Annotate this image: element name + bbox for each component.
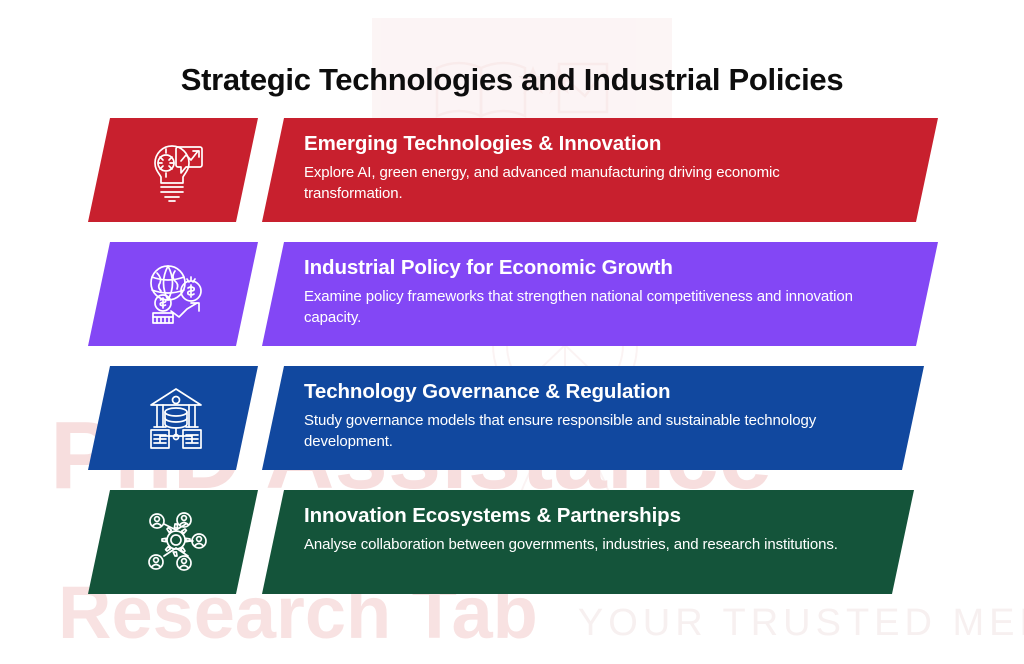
banner-text-block: Emerging Technologies & Innovation Explo… bbox=[304, 132, 878, 205]
banner-row[interactable]: Emerging Technologies & Innovation Explo… bbox=[0, 118, 1024, 222]
banner-icon-panel bbox=[88, 118, 258, 222]
banner-body-panel: Emerging Technologies & Innovation Explo… bbox=[262, 118, 938, 222]
banner-text-block: Industrial Policy for Economic Growth Ex… bbox=[304, 256, 878, 329]
banner-description: Analyse collaboration between government… bbox=[304, 534, 854, 556]
banner-row[interactable]: Industrial Policy for Economic Growth Ex… bbox=[0, 242, 1024, 346]
lightbulb-gear-chart-icon bbox=[145, 137, 207, 203]
banner-heading: Industrial Policy for Economic Growth bbox=[304, 256, 878, 281]
banner-list: Emerging Technologies & Innovation Explo… bbox=[0, 118, 1024, 614]
government-database-icon bbox=[143, 386, 209, 450]
page-title: Strategic Technologies and Industrial Po… bbox=[0, 62, 1024, 98]
banner-heading: Technology Governance & Regulation bbox=[304, 380, 864, 405]
globe-money-growth-icon bbox=[143, 263, 209, 325]
banner-icon-panel bbox=[88, 490, 258, 594]
banner-text-block: Innovation Ecosystems & Partnerships Ana… bbox=[304, 504, 854, 555]
banner-body-panel: Innovation Ecosystems & Partnerships Ana… bbox=[262, 490, 914, 594]
banner-description: Explore AI, green energy, and advanced m… bbox=[304, 162, 878, 206]
banner-description: Examine policy frameworks that strengthe… bbox=[304, 286, 878, 330]
banner-description: Study governance models that ensure resp… bbox=[304, 410, 864, 454]
banner-text-block: Technology Governance & Regulation Study… bbox=[304, 380, 864, 453]
infographic-canvas: PhD Assistance® Research Tab YOUR TRUSTE… bbox=[0, 0, 1024, 664]
banner-icon-panel bbox=[88, 242, 258, 346]
banner-row[interactable]: Technology Governance & Regulation Study… bbox=[0, 366, 1024, 470]
banner-row[interactable]: Innovation Ecosystems & Partnerships Ana… bbox=[0, 490, 1024, 594]
network-gear-people-icon bbox=[144, 510, 208, 574]
banner-body-panel: Technology Governance & Regulation Study… bbox=[262, 366, 924, 470]
banner-icon-panel bbox=[88, 366, 258, 470]
banner-heading: Emerging Technologies & Innovation bbox=[304, 132, 878, 157]
banner-heading: Innovation Ecosystems & Partnerships bbox=[304, 504, 854, 529]
banner-body-panel: Industrial Policy for Economic Growth Ex… bbox=[262, 242, 938, 346]
